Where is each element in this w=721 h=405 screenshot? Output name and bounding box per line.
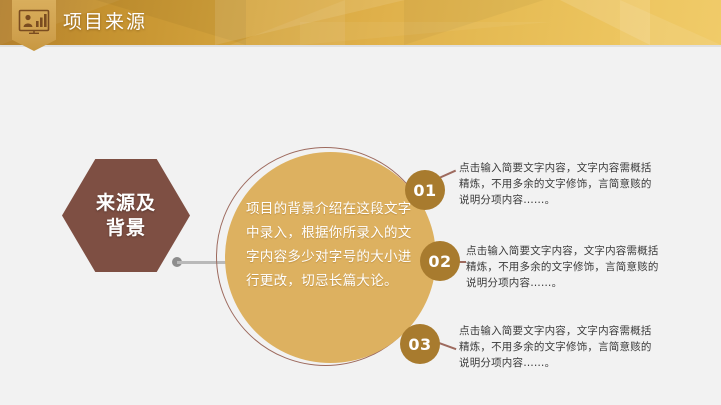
hexagon-node[interactable]: 来源及 背景: [62, 159, 190, 272]
slide-root: 项目来源 来源及 背景 项目的背景介绍在这段文字中录入，根据你所录入的文字内容多…: [0, 0, 721, 405]
page-title: 项目来源: [63, 10, 147, 35]
header-facet-7: [620, 0, 721, 45]
circle-body-text: 项目的背景介绍在这段文字中录入，根据你所录入的文字内容多少对字号的大小进行更改，…: [246, 197, 418, 293]
item-text-03: 点击输入简要文字内容，文字内容需概括精炼，不用多余的文字修饰，言简意赅的说明分项…: [459, 323, 653, 371]
number-badge-01[interactable]: 01: [405, 170, 445, 210]
hexagon-label-line2: 背景: [106, 216, 146, 241]
item-text-02: 点击输入简要文字内容，文字内容需概括精炼，不用多余的文字修饰，言简意赅的说明分项…: [466, 243, 660, 291]
number-badge-03[interactable]: 03: [400, 324, 440, 364]
hexagon-label: 来源及 背景: [62, 159, 190, 272]
number-badge-02[interactable]: 02: [420, 241, 460, 281]
diagram-canvas: 来源及 背景 项目的背景介绍在这段文字中录入，根据你所录入的文字内容多少对字号的…: [0, 47, 721, 405]
header-facet-8: [300, 22, 550, 45]
presentation-chart-icon: [18, 8, 50, 34]
hexagon-label-line1: 来源及: [96, 191, 156, 216]
item-text-01: 点击输入简要文字内容，文字内容需概括精炼，不用多余的文字修饰，言简意赅的说明分项…: [459, 160, 653, 208]
